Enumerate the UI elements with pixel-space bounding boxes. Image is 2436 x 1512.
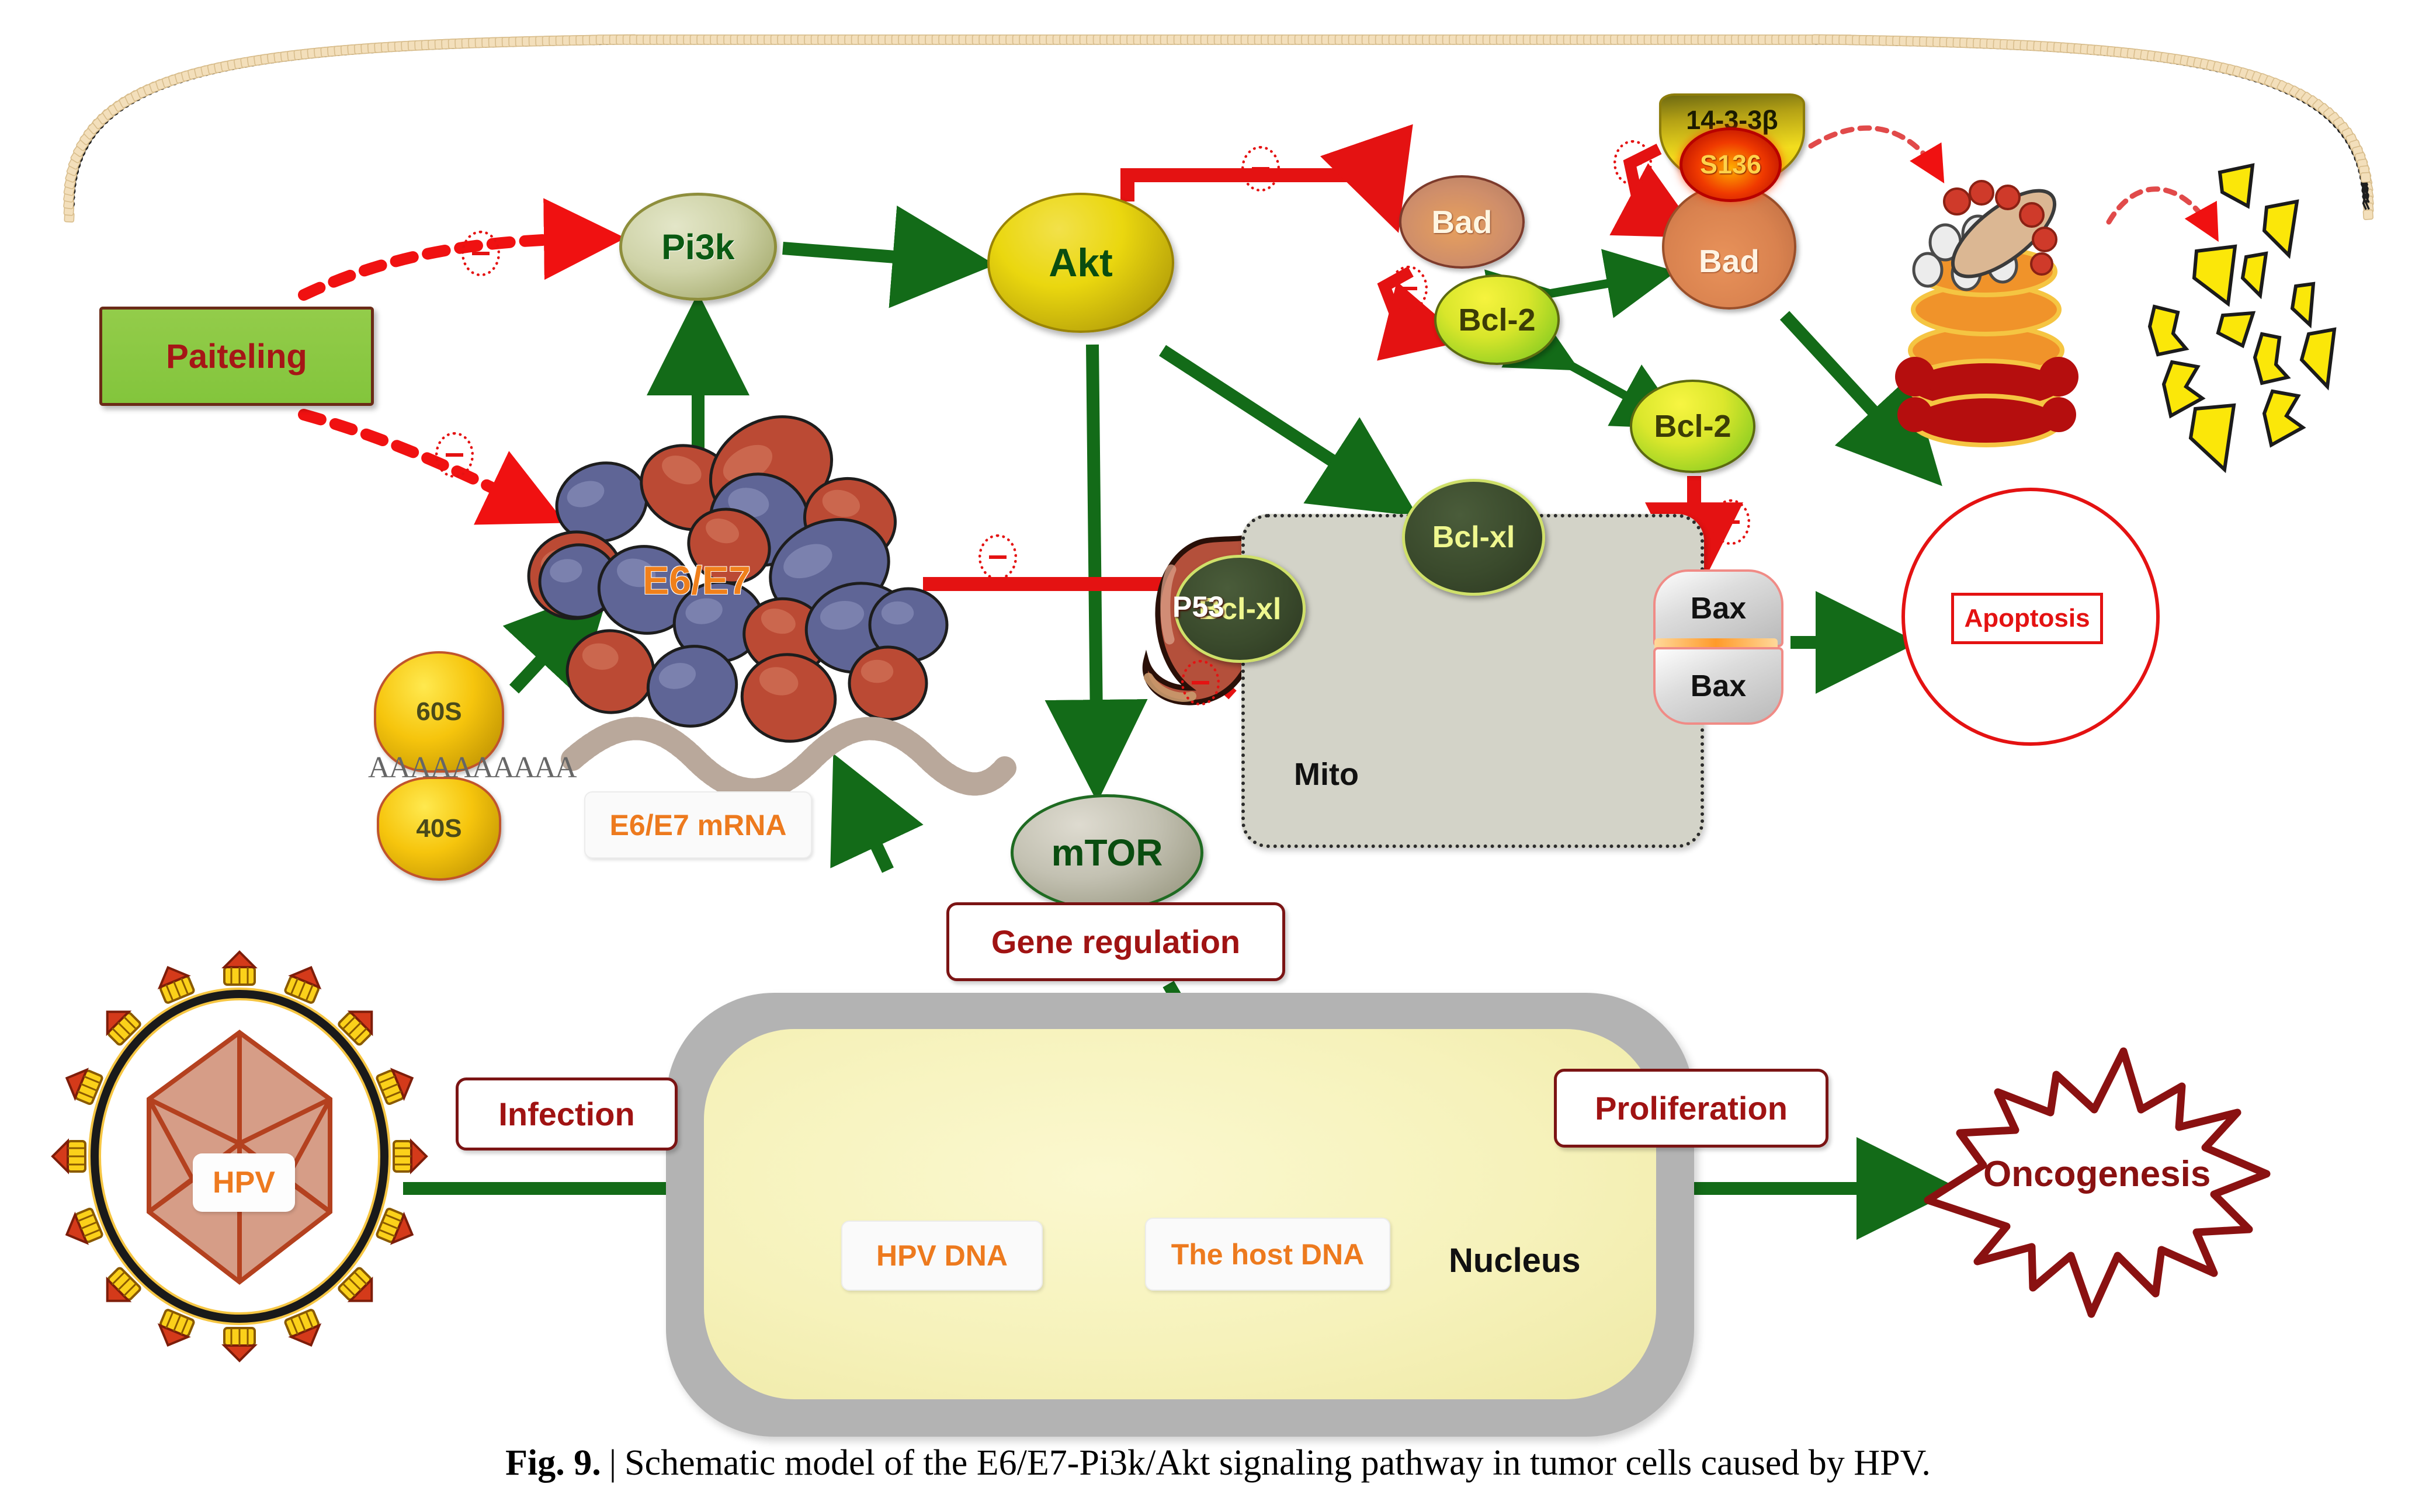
p53-label: P53 <box>1172 590 1224 624</box>
mito-label: Mito <box>1294 756 1359 793</box>
figure-caption: Fig. 9.|Schematic model of the E6/E7-Pi3… <box>0 1443 2436 1484</box>
s136-phosphosite-node[interactable]: S136 <box>1679 127 1782 202</box>
bax-bottom-label: Bax <box>1691 669 1746 704</box>
apoptotic-bodies <box>2150 165 2334 470</box>
host-dna-note: The host DNA <box>1145 1218 1390 1291</box>
apoptosis-label: Apoptosis <box>1964 604 2090 633</box>
mtor-label: mTOR <box>1052 831 1163 874</box>
infection-label: Infection <box>498 1095 634 1133</box>
pi3k-node[interactable]: Pi3k <box>619 193 777 301</box>
arrow-golgi-to-bodies <box>2109 189 2214 234</box>
e6e7-mrna-note: E6/E7 mRNA <box>584 791 812 858</box>
arrow-pi3k-to-akt <box>783 248 970 263</box>
arrow-paiteling-inhibits-pi3k <box>304 238 605 295</box>
inhibition-minus-icon-1433-bad <box>1613 140 1652 186</box>
paiteling-label: Paiteling <box>166 337 307 376</box>
caption-separator: | <box>601 1443 624 1483</box>
golgi-apparatus-icon <box>1895 176 2078 445</box>
caption-text: Schematic model of the E6/E7-Pi3k/Akt si… <box>624 1443 1931 1483</box>
inhibition-minus-icon-bcl2-bax <box>1712 499 1750 545</box>
bcl2-upper-node[interactable]: Bcl-2 <box>1434 274 1560 365</box>
pi3k-label: Pi3k <box>661 227 735 267</box>
bad-bound-node[interactable]: Bad <box>1662 184 1796 310</box>
inhibition-minus-icon-paiteling-pi3k <box>461 231 500 276</box>
bad-free-node[interactable]: Bad <box>1399 175 1525 269</box>
bax-top-label: Bax <box>1691 591 1746 626</box>
proliferation-label: Proliferation <box>1595 1089 1788 1127</box>
oncogenesis-label: Oncogenesis <box>1983 1153 2211 1195</box>
inhibition-minus-icon-p53-bclxl <box>1181 660 1220 705</box>
bad-bound-label: Bad <box>1699 242 1760 280</box>
inhibition-minus-icon-e6e7-p53 <box>978 534 1017 580</box>
inhibition-minus-icon-akt-bad <box>1241 146 1280 192</box>
nucleus-body <box>704 1029 1656 1399</box>
arrow-akt-to-mtor <box>1092 345 1097 777</box>
akt-node[interactable]: Akt <box>987 193 1174 333</box>
ribosome-60s-label: 60S <box>416 697 461 727</box>
bax-top-node[interactable]: Bax <box>1653 569 1783 647</box>
bax-dimer[interactable]: Bax Bax <box>1653 569 1779 721</box>
paiteling-node[interactable]: Paiteling <box>99 307 374 406</box>
bcl2-lower-node[interactable]: Bcl-2 <box>1630 380 1755 473</box>
inhibition-minus-icon-paiteling-e6e7 <box>435 432 474 478</box>
infection-box[interactable]: Infection <box>456 1077 678 1150</box>
akt-label: Akt <box>1049 240 1113 286</box>
e6e7-mrna-label: E6/E7 mRNA <box>610 808 787 842</box>
bax-bottom-node[interactable]: Bax <box>1653 647 1783 725</box>
figure-number: Fig. 9. <box>505 1443 601 1483</box>
arrow-bad-bad <box>1542 274 1659 295</box>
nucleus-label: Nucleus <box>1449 1241 1581 1280</box>
apoptosis-label-box: Apoptosis <box>1951 593 2103 644</box>
e6e7-label: E6/E7 <box>643 558 751 603</box>
host-dna-label: The host DNA <box>1171 1238 1365 1271</box>
ribosome-40s-subunit[interactable]: 40S <box>377 777 501 881</box>
hpv-label: HPV <box>213 1165 275 1200</box>
proliferation-box[interactable]: Proliferation <box>1554 1069 1828 1148</box>
mtor-node[interactable]: mTOR <box>1011 794 1203 911</box>
arrow-akt-to-bclxl <box>1163 350 1396 502</box>
gene-regulation-box[interactable]: Gene regulation <box>946 902 1285 981</box>
hpv-dna-note: HPV DNA <box>841 1221 1043 1291</box>
bad-free-label: Bad <box>1432 203 1493 241</box>
arrow-paiteling-inhibits-e6e7 <box>304 415 546 514</box>
figure-canvas: Nucleus Mito Paiteling Pi3k Akt mTOR Bad… <box>0 0 2436 1512</box>
bclxl-top-node[interactable]: Bcl-xl <box>1402 479 1545 596</box>
bcl2-upper-label: Bcl-2 <box>1458 302 1535 338</box>
inhibition-minus-icon-bad-bcl2 <box>1389 266 1428 311</box>
bcl2-lower-label: Bcl-2 <box>1654 408 1731 444</box>
arrow-badS136-to-golgi <box>1811 128 1939 175</box>
hpv-label-box: HPV <box>193 1153 295 1212</box>
polya-tail-label: AAAAAAAAAA <box>368 750 576 785</box>
gene-regulation-label: Gene regulation <box>991 923 1240 961</box>
arrow-mrna-up <box>844 777 888 870</box>
s136-label: S136 <box>1700 150 1761 180</box>
p53-node[interactable]: P53 <box>1142 529 1276 683</box>
ribosome-40s-label: 40S <box>416 814 461 843</box>
bclxl-top-label: Bcl-xl <box>1432 520 1515 555</box>
hpv-dna-label: HPV DNA <box>876 1239 1008 1273</box>
